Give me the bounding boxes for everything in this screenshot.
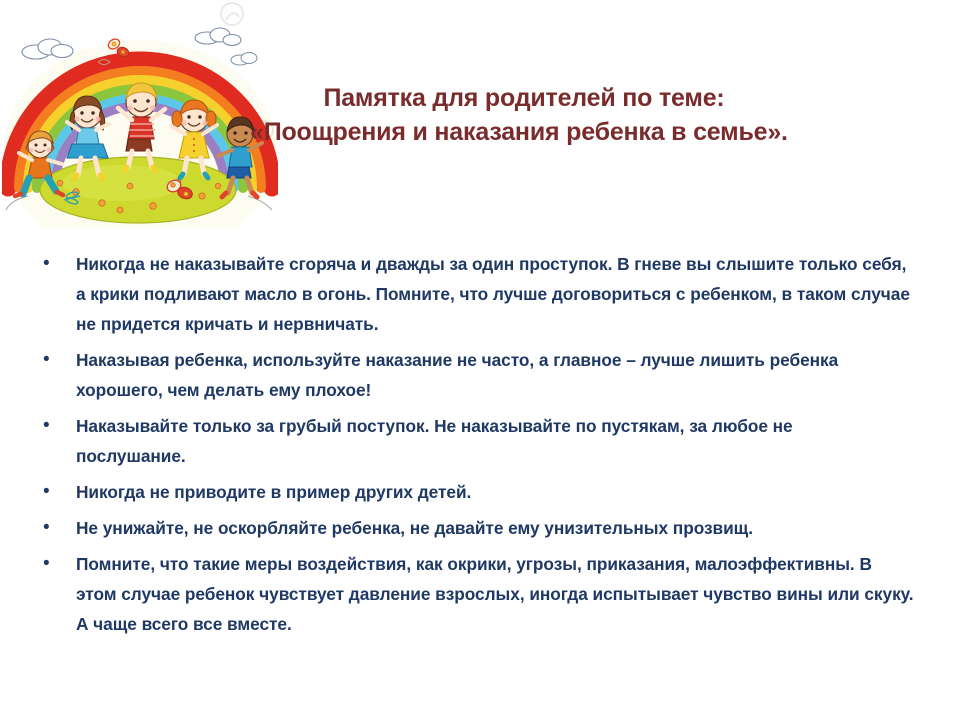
recommendations-list: • Никогда не наказывайте сгоряча и дважд… (34, 249, 934, 645)
bullet-dot-icon: • (34, 513, 76, 543)
list-item: • Не унижайте, не оскорбляйте ребенка, н… (34, 513, 934, 543)
title-line-2: «Поощрения и наказания ребенка в семье». (250, 116, 770, 150)
bullet-text-4: Никогда не приводите в пример других дет… (76, 477, 914, 507)
cloud-right (195, 28, 241, 46)
title-line-1: Памятка для родителей по теме: (250, 82, 770, 116)
bullet-text-6: Помните, что такие меры воздействия, как… (76, 549, 914, 639)
list-item: • Никогда не наказывайте сгоряча и дважд… (34, 249, 934, 339)
cloud-right-low (231, 53, 257, 66)
bullet-dot-icon: • (34, 345, 76, 375)
illustration-svg (2, 0, 278, 228)
bullet-text-1: Никогда не наказывайте сгоряча и дважды … (76, 249, 914, 339)
bullet-text-2: Наказывая ребенка, используйте наказание… (76, 345, 866, 405)
bullet-dot-icon: • (34, 411, 76, 441)
list-item: • Наказывая ребенка, используйте наказан… (34, 345, 934, 405)
rainbow-children-illustration (2, 0, 278, 228)
bullet-dot-icon: • (34, 549, 76, 579)
cloud-left (22, 39, 73, 59)
slide-canvas: Памятка для родителей по теме: «Поощрени… (0, 0, 960, 720)
bullet-text-5: Не унижайте, не оскорбляйте ребенка, не … (76, 513, 914, 543)
list-item: • Наказывайте только за грубый поступок.… (34, 411, 934, 471)
list-item: • Никогда не приводите в пример других д… (34, 477, 934, 507)
list-item: • Помните, что такие меры воздействия, к… (34, 549, 934, 639)
bullet-dot-icon: • (34, 477, 76, 507)
page-title: Памятка для родителей по теме: «Поощрени… (250, 82, 770, 149)
bullet-dot-icon: • (34, 249, 76, 279)
bullet-text-3: Наказывайте только за грубый поступок. Н… (76, 411, 866, 471)
